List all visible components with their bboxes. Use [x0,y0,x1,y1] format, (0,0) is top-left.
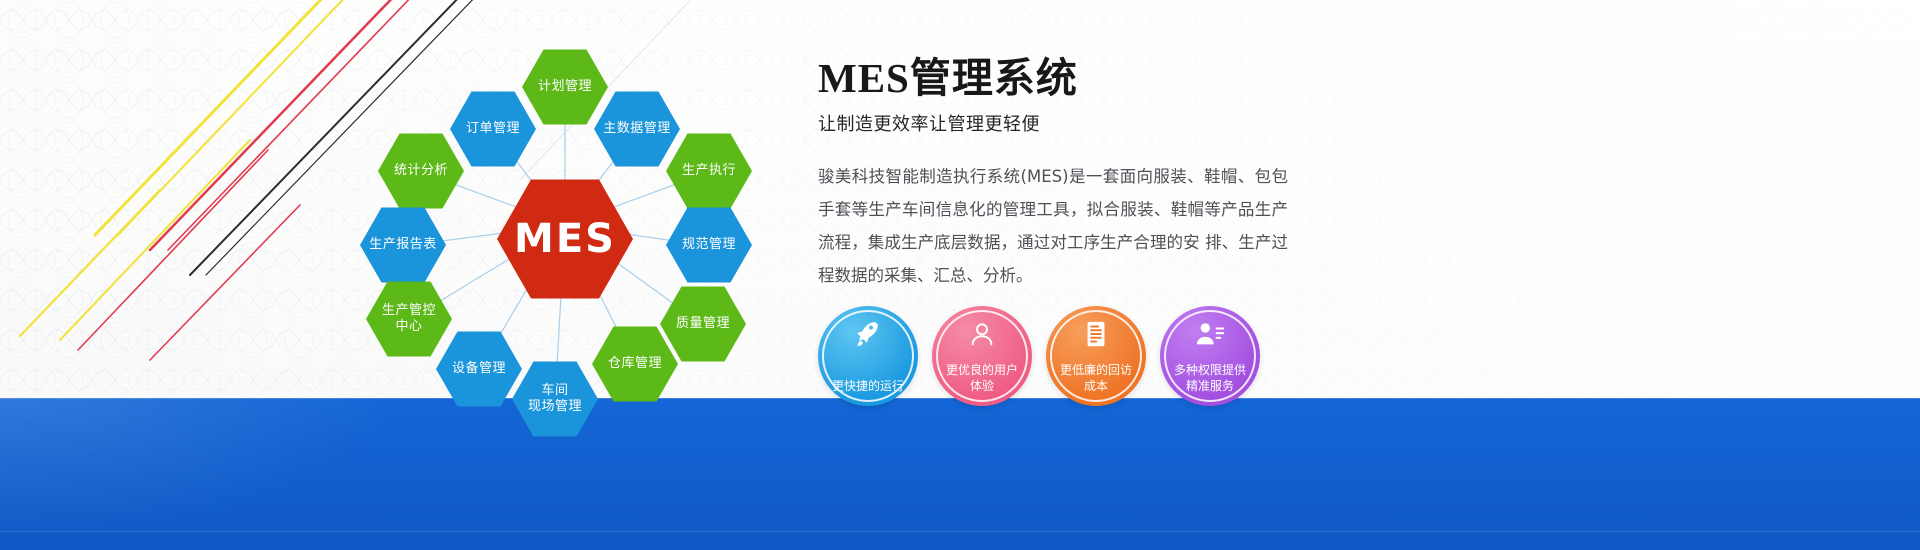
hex-node-label: 主数据管理 [599,121,675,137]
page-title: MES管理系统 [818,56,1288,101]
mes-banner: MES 计划管理订单管理主数据管理统计分析生产执行生产报告表规范管理生产管控 中… [0,0,1920,550]
feature-badge[interactable]: 更低廉的回访 成本 [1046,306,1146,406]
page-description: 骏美科技智能制造执行系统(MES)是一套面向服装、鞋帽、包包手套等生产车间信息化… [818,160,1288,292]
background-blue-band [0,398,1920,550]
people-icon [1195,319,1225,349]
document-icon [1081,319,1111,349]
hex-node-label: 设备管理 [448,361,510,377]
feature-badge[interactable]: 更快捷的运行 [818,306,918,406]
hex-node-label: 订单管理 [462,121,524,137]
user-icon [967,319,997,349]
badge-label: 更低廉的回访 成本 [1052,362,1140,394]
hex-node-label: 统计分析 [390,163,452,179]
hex-node-label: 生产报告表 [365,237,441,253]
banner-copy: MES管理系统 让制造更效率让管理更轻便 骏美科技智能制造执行系统(MES)是一… [818,56,1288,292]
feature-badge-list: 更快捷的运行更优良的用户 体验更低廉的回访 成本多种权限提供 精准服务 [818,306,1260,406]
hex-node-label: 质量管理 [672,316,734,332]
hex-node-label: 仓库管理 [604,356,666,372]
mes-hex-diagram: MES 计划管理订单管理主数据管理统计分析生产执行生产报告表规范管理生产管控 中… [330,20,800,430]
badge-label: 多种权限提供 精准服务 [1166,362,1254,394]
page-subtitle: 让制造更效率让管理更轻便 [818,110,1288,136]
hex-node-label: 生产执行 [678,163,740,179]
feature-badge[interactable]: 多种权限提供 精准服务 [1160,306,1260,406]
rocket-icon [853,319,883,349]
hex-core-label: MES [510,214,620,264]
feature-badge[interactable]: 更优良的用户 体验 [932,306,1032,406]
hex-node-label: 计划管理 [534,79,596,95]
badge-label: 更优良的用户 体验 [938,362,1026,394]
hex-node-label: 规范管理 [678,237,740,253]
badge-label: 更快捷的运行 [824,378,912,394]
hex-node-label: 生产管控 中心 [378,303,440,336]
hex-node-label: 车间 现场管理 [524,383,586,416]
